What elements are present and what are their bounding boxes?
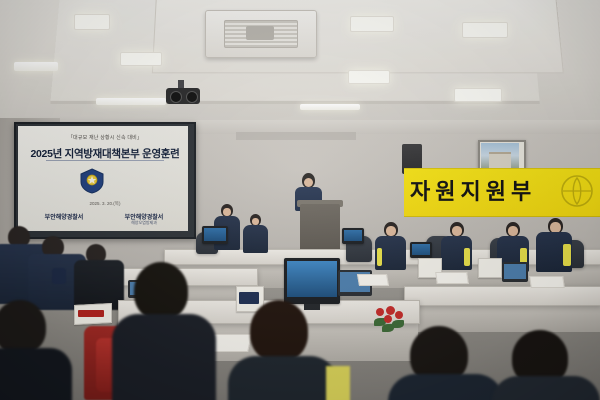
paper-sheet	[435, 272, 469, 284]
framed-picture-building	[489, 152, 511, 168]
laptop	[502, 262, 528, 282]
projector-lens-icon	[170, 91, 182, 103]
banner-text: 자원지원부	[410, 176, 560, 208]
flower-vase	[372, 306, 406, 332]
conference-room-photo: 「대규모 재난 상황시 신속 대비」 2025년 지역방재대책본부 운영훈련 2…	[0, 0, 600, 400]
slide-org-left: 부안해양경찰서	[24, 212, 104, 221]
slide-divider	[46, 160, 164, 161]
safety-vest	[326, 366, 350, 400]
paper-sheet	[529, 276, 565, 288]
right-front-table	[404, 286, 600, 306]
name-card-label	[78, 310, 104, 317]
monitor	[202, 226, 228, 244]
police-emblem-icon	[78, 168, 106, 194]
ac-center-vent	[246, 26, 274, 40]
ceiling-strip-light	[96, 98, 166, 105]
paper-sheet	[357, 274, 389, 286]
ceiling-light-panel	[454, 88, 502, 102]
slide-top-line: 「대규모 재난 상황시 신속 대비」	[30, 134, 180, 141]
ceiling-light-panel	[350, 16, 394, 32]
presenter-face	[304, 178, 313, 187]
slide-title: 2025년 지역방재대책본부 운영훈련	[24, 146, 186, 161]
monitor	[410, 242, 432, 258]
monitor	[342, 228, 364, 244]
projector-lens-icon	[186, 91, 198, 103]
name-card	[478, 258, 502, 278]
slide-date: 2025. 3. 20.(목)	[24, 201, 186, 207]
monitor-stand	[304, 304, 320, 310]
ceiling-strip-light	[14, 62, 58, 71]
ceiling-light-panel	[348, 70, 390, 84]
ceiling-strip-light	[300, 104, 360, 110]
ceiling-light-panel	[120, 52, 162, 66]
uniform-patch	[52, 268, 66, 284]
ceiling-light-panel	[74, 14, 110, 30]
coast-guard-emblem-icon	[560, 174, 594, 208]
desktop-monitor	[284, 258, 340, 304]
slide-org-sub: 해양오염방제과	[104, 220, 184, 226]
name-card-label	[239, 292, 259, 304]
wall-trim	[236, 132, 356, 140]
ceiling-light-panel	[462, 22, 508, 38]
